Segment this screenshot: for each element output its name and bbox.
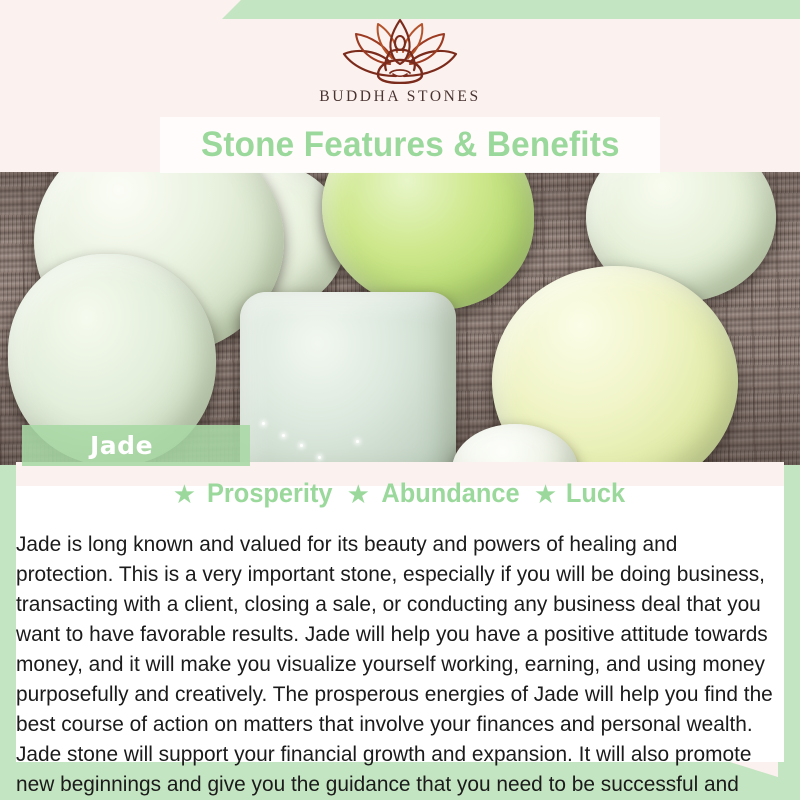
sparkle-highlight <box>300 444 303 447</box>
keyword-label: Luck <box>566 478 625 509</box>
sparkle-highlight <box>318 456 321 459</box>
sparkle-highlight <box>282 434 285 437</box>
keyword-luck: ★ Luck <box>534 478 627 509</box>
star-icon: ★ <box>347 481 370 507</box>
brand-name: BUDDHA STONES <box>0 88 800 106</box>
stone-name-chip: Jade <box>22 425 250 466</box>
stone-object <box>240 292 456 465</box>
brand-lockup: BUDDHA STONES <box>0 18 800 106</box>
lotus-meditation-icon <box>334 18 466 84</box>
keyword-row: ★ Prosperity ★ Abundance ★ Luck <box>0 478 800 509</box>
star-icon: ★ <box>173 481 196 507</box>
keyword-prosperity: ★ Prosperity <box>173 478 337 509</box>
title-banner: Stone Features & Benefits <box>160 117 660 173</box>
decor-band-top-right <box>222 0 800 19</box>
keyword-label: Abundance <box>381 478 519 509</box>
sparkle-highlight <box>356 440 359 443</box>
stone-name: Jade <box>90 431 153 460</box>
stone-photo <box>0 172 800 465</box>
page-title: Stone Features & Benefits <box>201 125 620 165</box>
sparkle-highlight <box>262 422 265 425</box>
keyword-label: Prosperity <box>207 478 333 509</box>
star-icon: ★ <box>534 481 557 507</box>
stone-description: Jade is long known and valued for its be… <box>16 530 776 800</box>
keyword-abundance: ★ Abundance <box>347 478 524 509</box>
product-info-poster: BUDDHA STONES Stone Features & Benefits … <box>0 0 800 800</box>
